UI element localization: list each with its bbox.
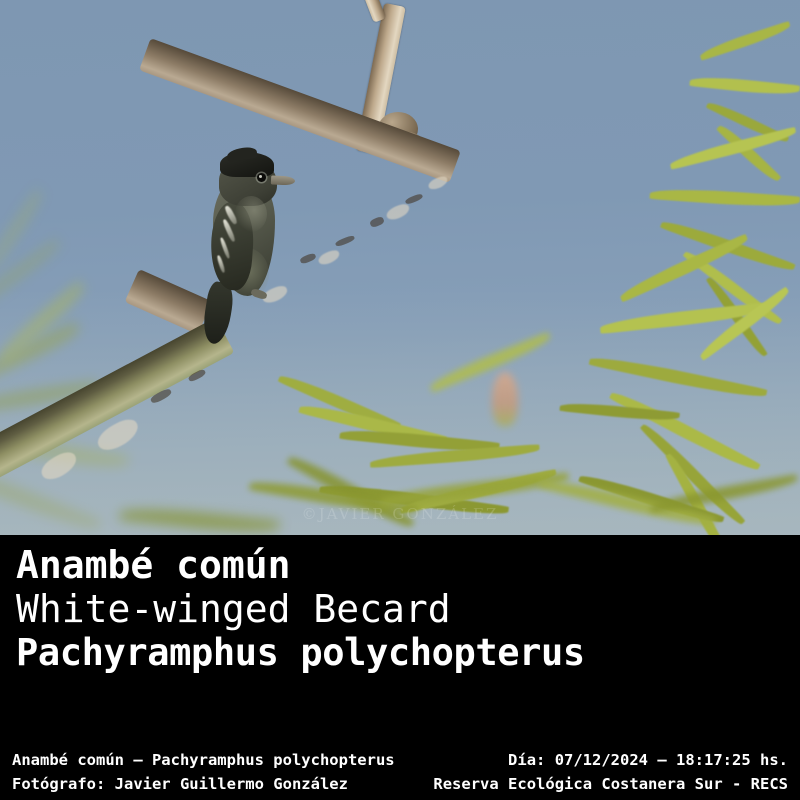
footer-date-line: Día: 07/12/2024 — 18:17:25 hs.	[508, 748, 788, 772]
common-name-english: White-winged Becard	[16, 587, 616, 631]
footer-bar: Anambé común — Pachyramphus polychopteru…	[0, 730, 800, 800]
branch-bare-upper-left	[332, 0, 386, 23]
bird-beak	[271, 175, 295, 185]
bird-eye	[257, 173, 266, 182]
background-flower-spike	[492, 372, 518, 426]
bird-throat	[235, 196, 267, 232]
footer-species-line: Anambé común — Pachyramphus polychopteru…	[12, 748, 395, 772]
foliage-bottom-strip	[0, 470, 800, 535]
bark-texture	[369, 216, 385, 229]
footer-location-line: Reserva Ecológica Costanera Sur - RECS	[433, 772, 788, 796]
bark-texture	[405, 193, 424, 205]
bark-lichen	[385, 202, 412, 222]
bird-photograph: ©JAVIER GONZÁLEZ	[0, 0, 800, 535]
bark-lichen	[317, 248, 342, 266]
photo-card: ©JAVIER GONZÁLEZ Anambé común White-wing…	[0, 0, 800, 800]
scientific-name: Pachyramphus polychopterus	[16, 631, 616, 675]
title-bar: Anambé común White-winged Becard Pachyra…	[0, 535, 800, 730]
photo-watermark: ©JAVIER GONZÁLEZ	[0, 505, 800, 523]
bark-texture	[335, 234, 356, 247]
bird-subject	[195, 140, 310, 330]
common-name-spanish: Anambé común	[16, 543, 616, 587]
footer-photographer-line: Fotógrafo: Javier Guillermo González	[12, 772, 348, 796]
bark-lichen	[427, 175, 449, 192]
species-title-block: Anambé común White-winged Becard Pachyra…	[16, 543, 616, 675]
